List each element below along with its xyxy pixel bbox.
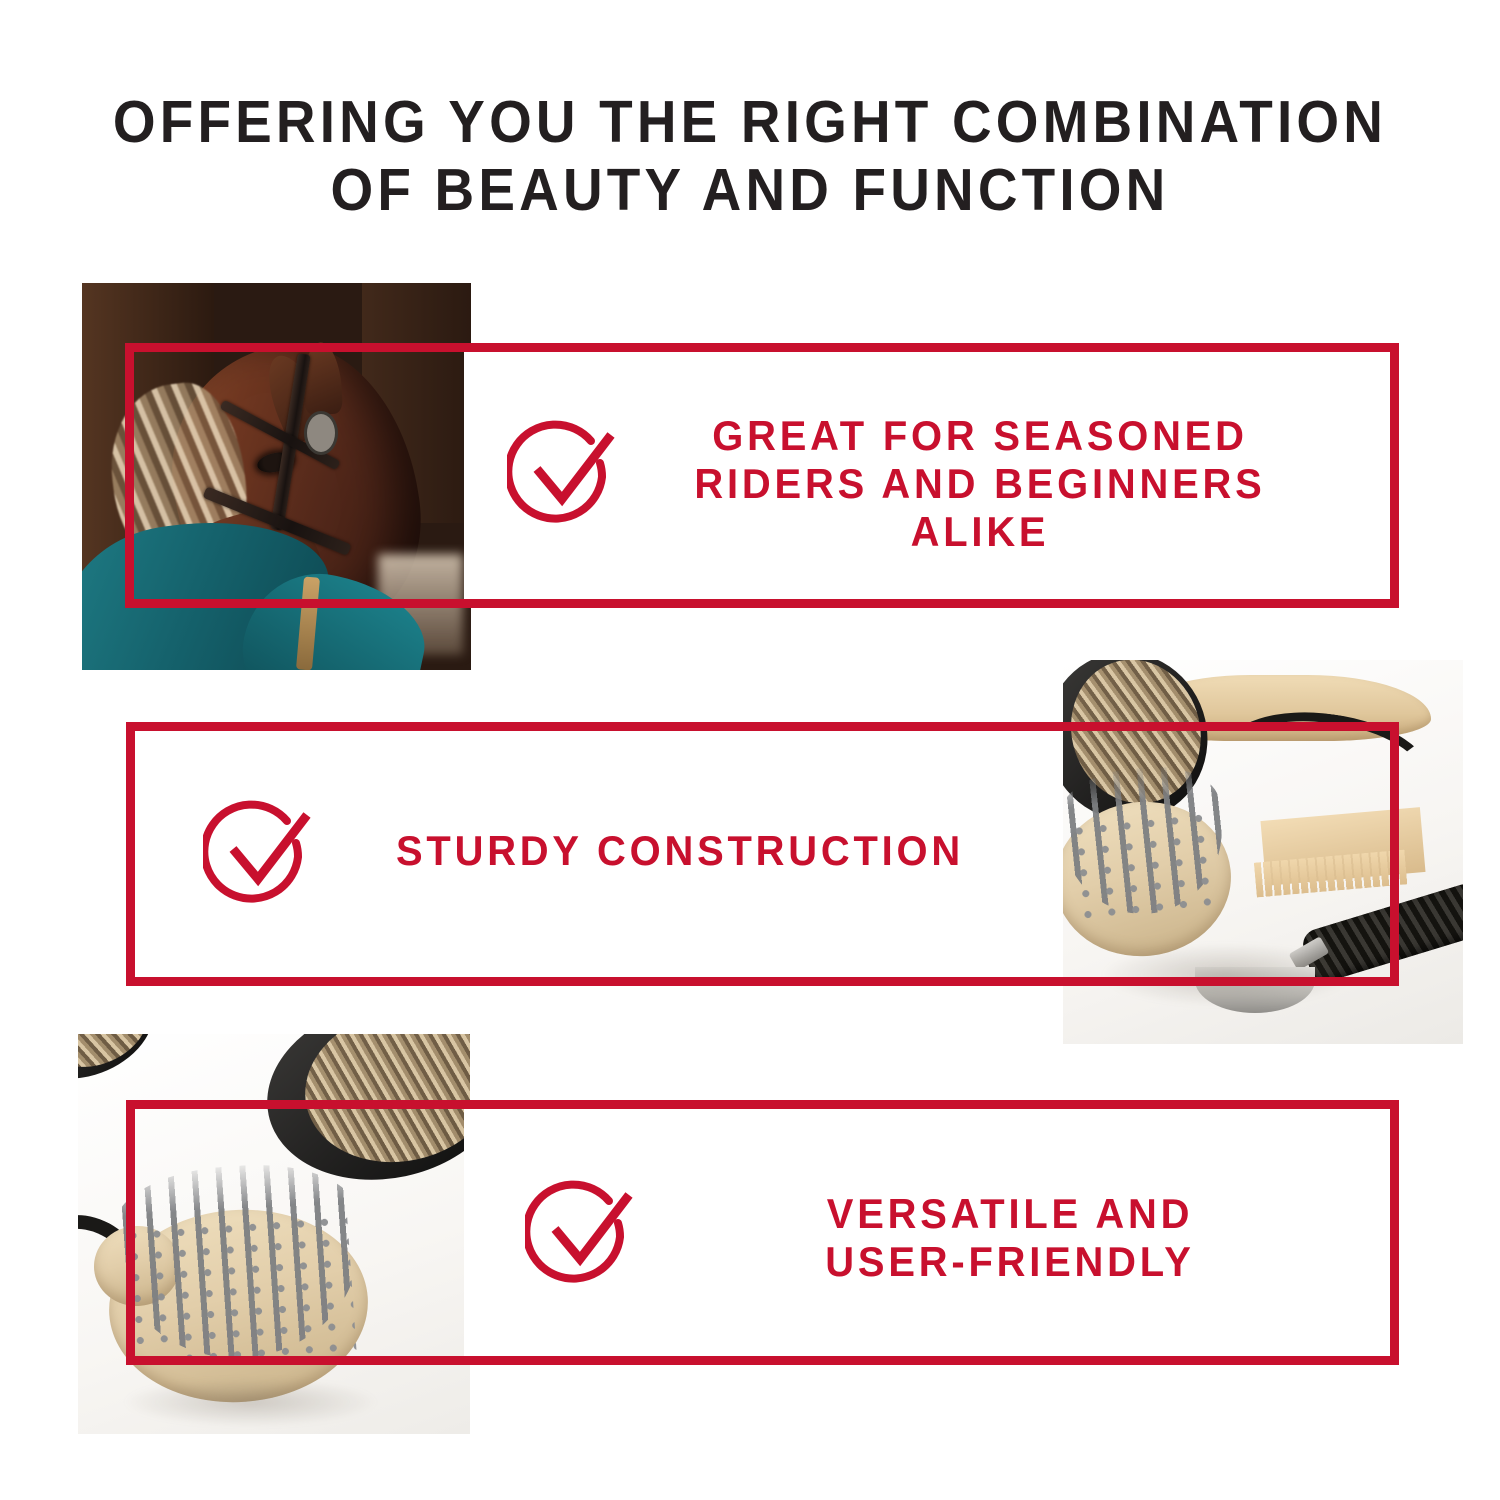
feature-3-label-line-1: VERSATILE AND (716, 1190, 1305, 1238)
circle-check-icon (203, 795, 321, 913)
page-title: OFFERING YOU THE RIGHT COMBINATION OF BE… (53, 88, 1448, 224)
feature-1-label: GREAT FOR SEASONED RIDERS AND BEGINNERS … (686, 412, 1275, 556)
feature-1-label-line-1: GREAT FOR SEASONED (686, 412, 1275, 460)
feature-1-label-line-3: ALIKE (686, 508, 1275, 556)
feature-1-label-line-2: RIDERS AND BEGINNERS (686, 460, 1275, 508)
circle-check-icon (507, 415, 625, 533)
feature-3-label: VERSATILE AND USER-FRIENDLY (716, 1190, 1305, 1286)
infographic-root: OFFERING YOU THE RIGHT COMBINATION OF BE… (0, 0, 1500, 1500)
page-title-line-1: OFFERING YOU THE RIGHT COMBINATION (53, 88, 1448, 156)
page-title-line-2: OF BEAUTY AND FUNCTION (53, 156, 1448, 224)
feature-2-label-line-1: STURDY CONSTRUCTION (386, 827, 975, 875)
circle-check-icon (525, 1175, 643, 1293)
feature-2-label: STURDY CONSTRUCTION (386, 827, 975, 875)
feature-3-label-line-2: USER-FRIENDLY (716, 1238, 1305, 1286)
